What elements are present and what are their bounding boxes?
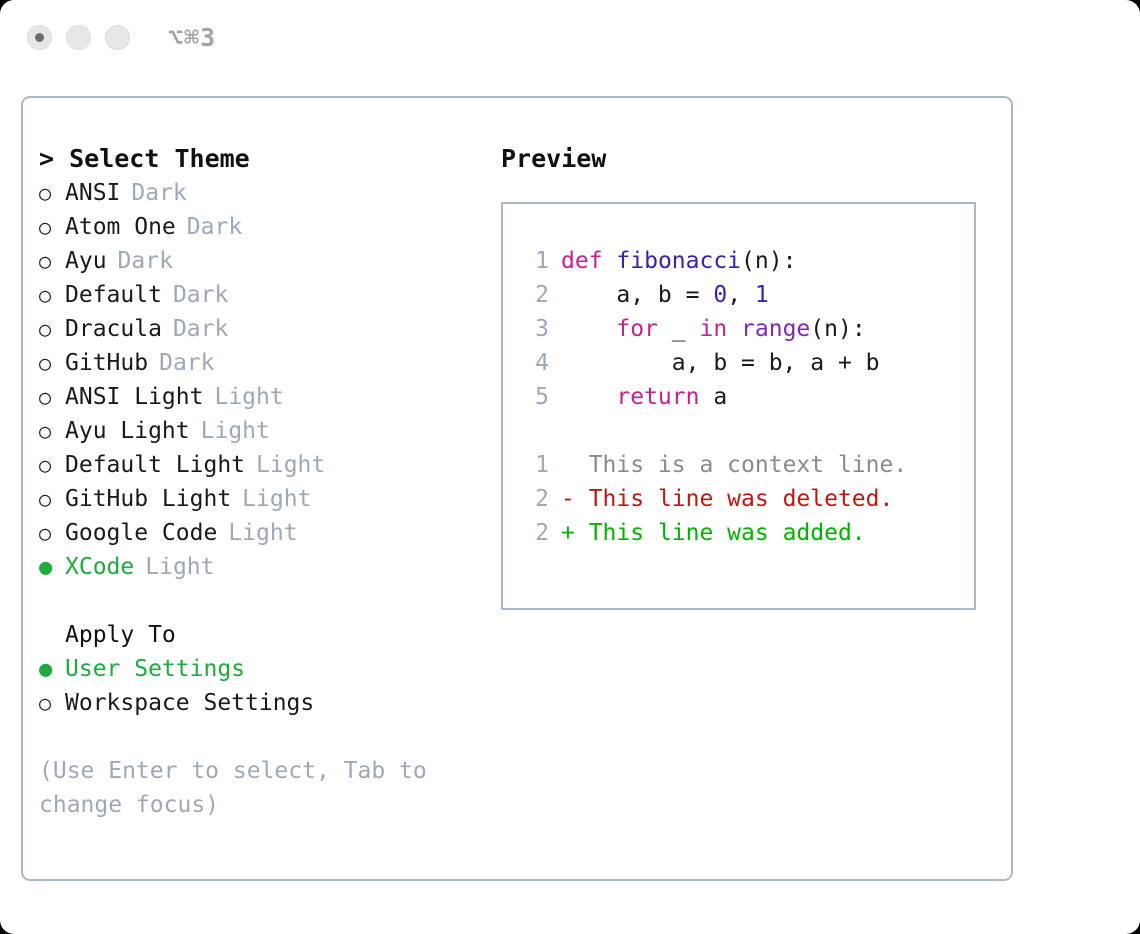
radio-unselected-icon: ○ xyxy=(39,210,65,244)
theme-option-default[interactable]: ○DefaultDark xyxy=(39,278,489,312)
preview-pane: Preview 1def fibonacci(n):2 a, b = 0, 13… xyxy=(501,142,991,176)
theme-list: ○ANSIDark○Atom OneDark○AyuDark○DefaultDa… xyxy=(39,176,489,584)
theme-option-atom-one[interactable]: ○Atom OneDark xyxy=(39,210,489,244)
code-line: 3 for _ in range(n): xyxy=(521,312,907,346)
diff-text: This line was deleted. xyxy=(589,486,894,512)
code-line-number: 3 xyxy=(521,312,549,346)
code-line-number: 2 xyxy=(521,278,549,312)
radio-unselected-icon: ○ xyxy=(39,516,65,550)
keyboard-shortcut-label: ⌥⌘3 xyxy=(168,22,216,54)
code-token: ( xyxy=(810,316,824,342)
window-dot-active[interactable] xyxy=(27,25,52,50)
code-token: ): xyxy=(769,248,797,274)
diff-line: 1 This is a context line. xyxy=(521,448,907,482)
theme-option-label: Default xyxy=(65,278,162,312)
theme-option-ayu[interactable]: ○AyuDark xyxy=(39,244,489,278)
screen: ⌥⌘3 > Select Theme ○ANSIDark○Atom OneDar… xyxy=(0,0,1140,934)
diff-marker: - xyxy=(561,486,589,512)
theme-option-label: Atom One xyxy=(65,210,176,244)
preview-heading: Preview xyxy=(501,142,991,176)
diff-line-number: 1 xyxy=(521,448,549,482)
code-token: return xyxy=(616,384,699,410)
diff-line: 2+ This line was added. xyxy=(521,516,907,550)
diff-marker: + xyxy=(561,520,589,546)
select-theme-heading: > Select Theme xyxy=(39,142,489,176)
theme-option-dracula[interactable]: ○DraculaDark xyxy=(39,312,489,346)
theme-option-github[interactable]: ○GitHubDark xyxy=(39,346,489,380)
theme-option-label: ANSI xyxy=(65,176,120,210)
radio-unselected-icon: ○ xyxy=(39,448,65,482)
apply-to-heading: Apply To xyxy=(39,618,489,652)
code-line: 2 a, b = 0, 1 xyxy=(521,278,907,312)
theme-option-default-light[interactable]: ○Default LightLight xyxy=(39,448,489,482)
radio-unselected-icon: ○ xyxy=(39,312,65,346)
diff-line-number: 2 xyxy=(521,482,549,516)
preview-box: 1def fibonacci(n):2 a, b = 0, 13 for _ i… xyxy=(501,202,976,610)
theme-option-label: ANSI Light xyxy=(65,380,203,414)
keyboard-hint: (Use Enter to select, Tab to change focu… xyxy=(39,754,439,822)
theme-option-category: Light xyxy=(231,482,311,516)
theme-option-label: XCode xyxy=(65,550,134,584)
code-line: 5 return a xyxy=(521,380,907,414)
list-spacer xyxy=(39,584,489,618)
code-token xyxy=(603,248,617,274)
apply-to-list: ●User Settings○Workspace Settings xyxy=(39,652,489,720)
theme-option-xcode[interactable]: ●XCodeLight xyxy=(39,550,489,584)
window-controls xyxy=(27,25,130,50)
code-line-number: 5 xyxy=(521,380,549,414)
diff-marker xyxy=(561,452,589,478)
radio-unselected-icon: ○ xyxy=(39,346,65,380)
radio-selected-icon: ● xyxy=(39,551,65,585)
code-token: a, b = xyxy=(561,282,713,308)
code-token: n xyxy=(755,248,769,274)
radio-unselected-icon: ○ xyxy=(39,244,65,278)
theme-option-label: Google Code xyxy=(65,516,217,550)
theme-option-category: Light xyxy=(134,550,214,584)
code-preview: 1def fibonacci(n):2 a, b = 0, 13 for _ i… xyxy=(521,244,907,550)
apply-to-option-user-settings[interactable]: ●User Settings xyxy=(39,652,489,686)
theme-option-github-light[interactable]: ○GitHub LightLight xyxy=(39,482,489,516)
theme-option-ansi-light[interactable]: ○ANSI LightLight xyxy=(39,380,489,414)
code-token: a, b = b, a + b xyxy=(561,350,880,376)
theme-option-category: Dark xyxy=(176,210,242,244)
radio-selected-icon: ● xyxy=(39,653,65,687)
theme-option-category: Light xyxy=(217,516,297,550)
code-token: def xyxy=(561,248,603,274)
code-token: for xyxy=(616,316,658,342)
app-window: > Select Theme ○ANSIDark○Atom OneDark○Ay… xyxy=(21,96,1013,881)
code-line-number: 4 xyxy=(521,346,549,380)
diff-line: 2- This line was deleted. xyxy=(521,482,907,516)
window-dot-active-inner xyxy=(35,33,44,42)
theme-selection-pane: > Select Theme ○ANSIDark○Atom OneDark○Ay… xyxy=(39,142,489,822)
code-token: fibonacci xyxy=(616,248,741,274)
diff-text: This line was added. xyxy=(589,520,866,546)
theme-option-category: Light xyxy=(245,448,325,482)
code-blank-line xyxy=(521,414,907,448)
theme-option-category: Dark xyxy=(162,278,228,312)
code-token: 1 xyxy=(755,282,769,308)
theme-option-category: Light xyxy=(190,414,270,448)
radio-unselected-icon: ○ xyxy=(39,414,65,448)
diff-text: This is a context line. xyxy=(589,452,908,478)
window-dot-second[interactable] xyxy=(66,25,91,50)
theme-option-label: Ayu Light xyxy=(65,414,190,448)
code-token: 0 xyxy=(713,282,727,308)
code-token: in xyxy=(699,316,727,342)
code-token: ( xyxy=(741,248,755,274)
apply-to-option-workspace-settings[interactable]: ○Workspace Settings xyxy=(39,686,489,720)
theme-option-category: Dark xyxy=(120,176,186,210)
radio-unselected-icon: ○ xyxy=(39,482,65,516)
theme-option-google-code[interactable]: ○Google CodeLight xyxy=(39,516,489,550)
theme-option-category: Dark xyxy=(148,346,214,380)
code-token: , xyxy=(727,282,755,308)
theme-option-category: Dark xyxy=(162,312,228,346)
radio-unselected-icon: ○ xyxy=(39,176,65,210)
code-token: _ xyxy=(658,316,700,342)
apply-to-option-label: Workspace Settings xyxy=(65,686,314,720)
radio-unselected-icon: ○ xyxy=(39,278,65,312)
window-titlebar: ⌥⌘3 xyxy=(0,0,1140,78)
code-token: a xyxy=(699,384,727,410)
theme-option-ayu-light[interactable]: ○Ayu LightLight xyxy=(39,414,489,448)
theme-option-ansi[interactable]: ○ANSIDark xyxy=(39,176,489,210)
code-line: 1def fibonacci(n): xyxy=(521,244,907,278)
diff-line-number: 2 xyxy=(521,516,549,550)
theme-option-category: Light xyxy=(203,380,283,414)
code-line-number: 1 xyxy=(521,244,549,278)
apply-to-option-label: User Settings xyxy=(65,652,245,686)
code-token xyxy=(561,384,616,410)
theme-option-category: Dark xyxy=(107,244,173,278)
theme-option-label: Ayu xyxy=(65,244,107,278)
window-dot-third[interactable] xyxy=(105,25,130,50)
radio-unselected-icon: ○ xyxy=(39,686,65,720)
code-token xyxy=(727,316,741,342)
code-token: range xyxy=(741,316,810,342)
code-line: 4 a, b = b, a + b xyxy=(521,346,907,380)
theme-option-label: GitHub xyxy=(65,346,148,380)
theme-option-label: Default Light xyxy=(65,448,245,482)
code-token: ): xyxy=(838,316,866,342)
theme-option-label: GitHub Light xyxy=(65,482,231,516)
theme-option-label: Dracula xyxy=(65,312,162,346)
radio-unselected-icon: ○ xyxy=(39,380,65,414)
code-token: n xyxy=(824,316,838,342)
code-token xyxy=(561,316,616,342)
